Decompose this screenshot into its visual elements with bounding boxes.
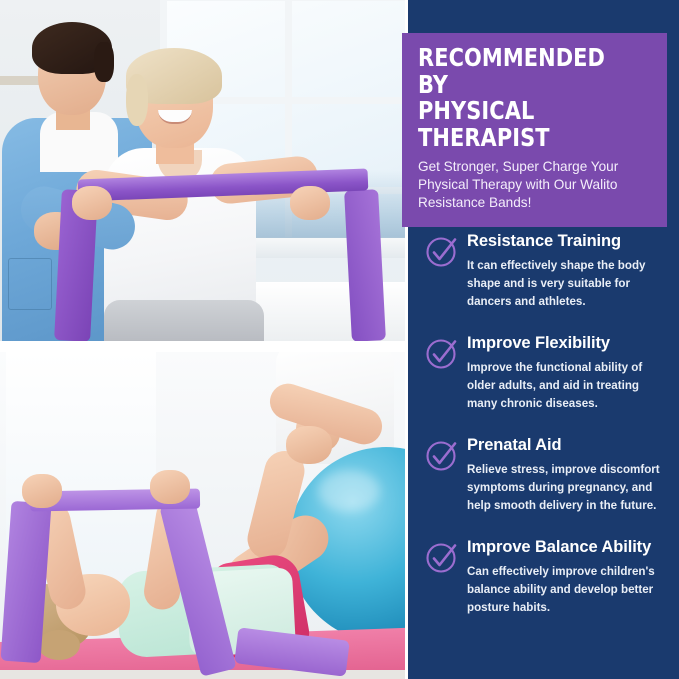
- feature-description: Can effectively improve children's balan…: [467, 563, 669, 617]
- feature-description: Improve the functional ability of older …: [467, 359, 669, 413]
- feature-item-prenatal-aid: Prenatal Aid Relieve stress, improve dis…: [408, 436, 679, 522]
- feature-item-improve-flexibility: Improve Flexibility Improve the function…: [408, 334, 679, 420]
- patient-right-hand: [290, 186, 330, 220]
- therapy-room-scene: [0, 352, 405, 679]
- patient-left-hand: [72, 186, 112, 220]
- headline-banner: RECOMMENDED BY PHYSICAL THERAPIST Get St…: [402, 33, 667, 227]
- feature-title: Resistance Training: [467, 232, 669, 250]
- therapist-hair-side: [94, 42, 114, 82]
- check-circle-icon: [425, 234, 459, 268]
- info-panel: RECOMMENDED BY PHYSICAL THERAPIST Get St…: [408, 0, 679, 679]
- therapist-pocket: [8, 258, 52, 310]
- feature-title: Improve Balance Ability: [467, 538, 669, 556]
- photo-divider: [0, 341, 405, 352]
- patient-hair-side: [126, 74, 148, 126]
- banner-title-line1: RECOMMENDED BY: [418, 45, 637, 98]
- girl-right-hand: [150, 470, 190, 504]
- wall-shelf: [0, 76, 40, 85]
- feature-list: Resistance Training It can effectively s…: [408, 232, 679, 640]
- product-poster: RECOMMENDED BY PHYSICAL THERAPIST Get St…: [0, 0, 679, 679]
- check-circle-icon: [425, 336, 459, 370]
- photo-column: [0, 0, 405, 679]
- patient-lap: [104, 300, 264, 341]
- banner-subtitle: Get Stronger, Super Charge Your Physical…: [418, 158, 653, 213]
- girl-hair-bun: [38, 630, 80, 660]
- feature-item-improve-balance-ability: Improve Balance Ability Can effectively …: [408, 538, 679, 624]
- girl-left-hand: [22, 474, 62, 508]
- banner-title: RECOMMENDED BY PHYSICAL THERAPIST: [418, 45, 637, 151]
- feature-description: Relieve stress, improve discomfort sympt…: [467, 461, 669, 515]
- photo-girl-exercising-on-ball: [0, 352, 405, 679]
- feature-title: Improve Flexibility: [467, 334, 669, 352]
- clinic-scene: [0, 0, 405, 341]
- feature-item-resistance-training: Resistance Training It can effectively s…: [408, 232, 679, 318]
- feature-title: Prenatal Aid: [467, 436, 669, 454]
- photo-therapist-assisting-senior-woman: [0, 0, 405, 341]
- check-circle-icon: [425, 540, 459, 574]
- feature-description: It can effectively shape the body shape …: [467, 257, 669, 311]
- ball-highlight: [318, 470, 380, 512]
- banner-title-line2: PHYSICAL THERAPIST: [418, 98, 637, 151]
- therapist-hand: [286, 426, 332, 464]
- check-circle-icon: [425, 438, 459, 472]
